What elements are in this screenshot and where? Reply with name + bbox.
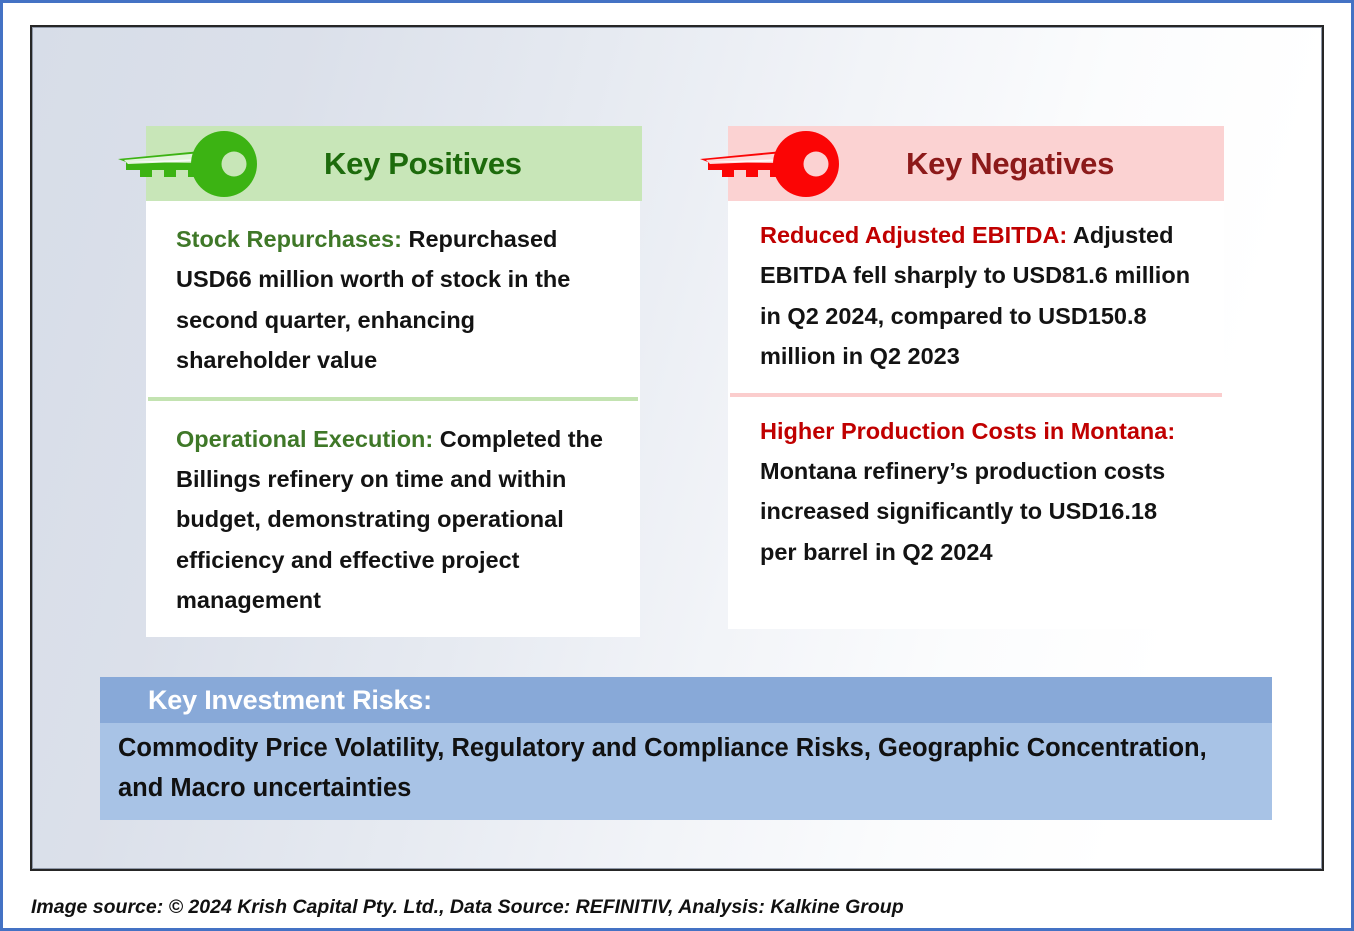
key-investment-risks-title: Key Investment Risks: bbox=[100, 677, 1272, 723]
key-positives-header: Key Positives bbox=[146, 126, 642, 201]
negative-item-2: Higher Production Costs in Montana: Mont… bbox=[728, 397, 1224, 629]
positive-item-2-lead: Operational Execution: bbox=[176, 426, 433, 452]
source-footer: Image source: © 2024 Krish Capital Pty. … bbox=[31, 896, 904, 919]
negative-item-2-lead: Higher Production Costs in Montana: bbox=[760, 418, 1175, 444]
key-investment-risks-banner: Key Investment Risks: Commodity Price Vo… bbox=[100, 677, 1272, 820]
key-positives-column: Key Positives Stock Repurchases: Repurch… bbox=[146, 126, 642, 637]
negative-item-1: Reduced Adjusted EBITDA: Adjusted EBITDA… bbox=[728, 201, 1224, 393]
key-negatives-title: Key Negatives bbox=[906, 146, 1114, 182]
key-icon bbox=[688, 129, 868, 199]
key-negatives-card: Reduced Adjusted EBITDA: Adjusted EBITDA… bbox=[728, 201, 1224, 629]
key-negatives-column: Key Negatives Reduced Adjusted EBITDA: A… bbox=[728, 126, 1224, 629]
key-investment-risks-body: Commodity Price Volatility, Regulatory a… bbox=[100, 723, 1272, 820]
positive-item-2: Operational Execution: Completed the Bil… bbox=[146, 401, 640, 637]
key-icon bbox=[106, 129, 286, 199]
positive-item-2-body: Completed the Billings refinery on time … bbox=[176, 426, 603, 614]
positive-item-1: Stock Repurchases: Repurchased USD66 mil… bbox=[146, 201, 640, 397]
positive-item-1-lead: Stock Repurchases: bbox=[176, 226, 402, 252]
key-positives-title: Key Positives bbox=[324, 146, 522, 182]
negative-item-2-body: Montana refinery’s production costs incr… bbox=[760, 458, 1165, 565]
infographic-page: Key Positives Stock Repurchases: Repurch… bbox=[0, 0, 1354, 931]
negative-item-1-lead: Reduced Adjusted EBITDA: bbox=[760, 222, 1067, 248]
content-panel: Key Positives Stock Repurchases: Repurch… bbox=[30, 25, 1324, 871]
key-negatives-header: Key Negatives bbox=[728, 126, 1224, 201]
key-positives-card: Stock Repurchases: Repurchased USD66 mil… bbox=[146, 201, 640, 637]
